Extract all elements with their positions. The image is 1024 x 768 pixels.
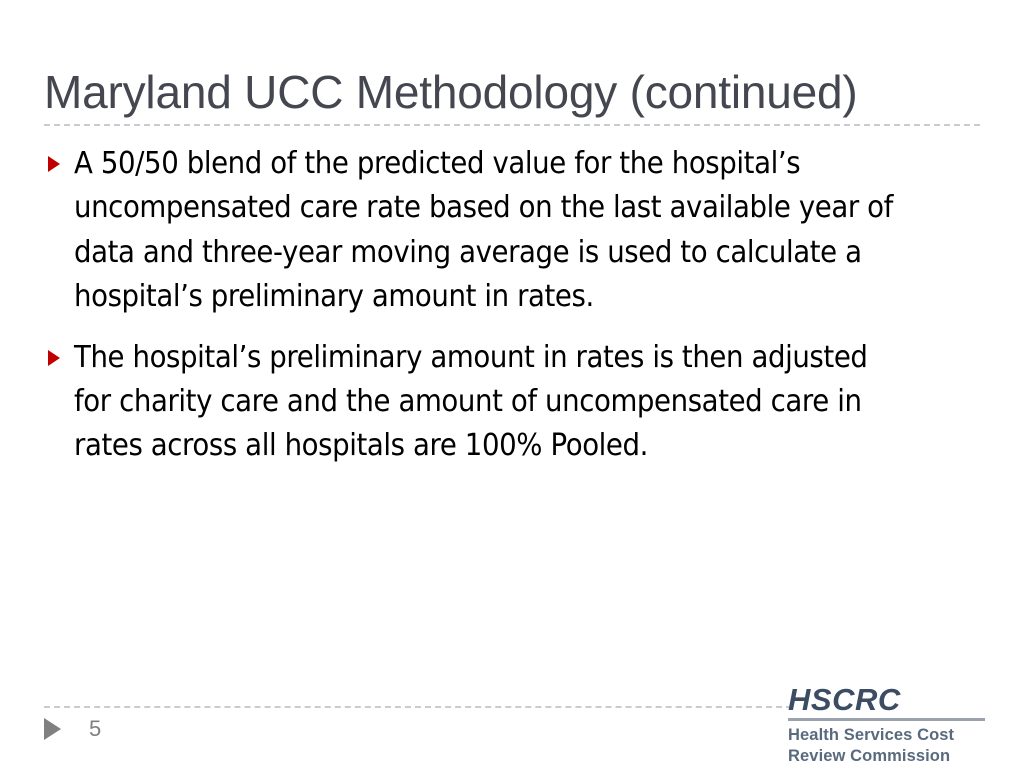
title-divider <box>44 124 980 126</box>
triangle-bullet-icon <box>48 336 74 366</box>
page-title: Maryland UCC Methodology (continued) <box>44 67 984 119</box>
logo-subtitle-line-2: Review Commission <box>788 746 988 767</box>
logo-acronym: HSCRC <box>788 684 988 717</box>
page-number: 5 <box>89 718 101 740</box>
logo-subtitle-line-1: Health Services Cost <box>788 725 988 746</box>
list-item: The hospital’s preliminary amount in rat… <box>48 336 988 469</box>
list-item: A 50/50 blend of the predicted value for… <box>48 142 988 320</box>
presentation-slide: Maryland UCC Methodology (continued) A 5… <box>0 0 1024 768</box>
bullet-text: The hospital’s preliminary amount in rat… <box>74 336 901 469</box>
slide-body: A 50/50 blend of the predicted value for… <box>48 142 988 485</box>
footer-page-indicator: 5 <box>44 718 101 740</box>
footer-divider <box>44 706 792 708</box>
logo-divider-bar <box>788 718 985 721</box>
triangle-marker-icon <box>44 718 61 740</box>
bullet-text: A 50/50 blend of the predicted value for… <box>74 142 901 320</box>
hscrc-logo: HSCRC Health Services Cost Review Commis… <box>788 684 988 768</box>
triangle-bullet-icon <box>48 142 74 172</box>
